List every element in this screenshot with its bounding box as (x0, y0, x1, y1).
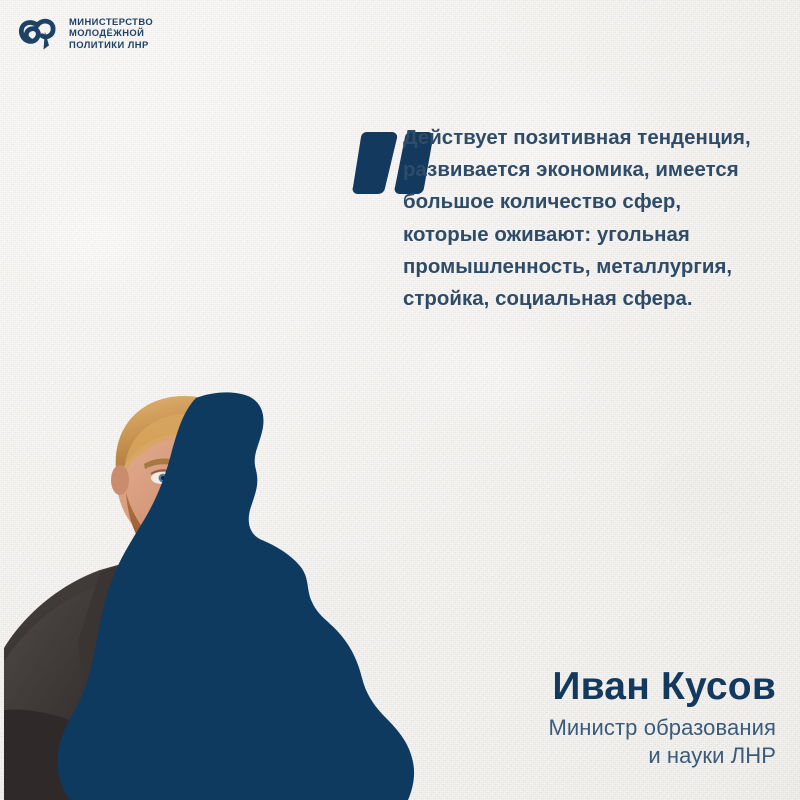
speaker-role: Министр образования и науки ЛНР (548, 714, 776, 770)
attribution-block: Иван Кусов Министр образования и науки Л… (548, 666, 776, 770)
ministry-logo-text: МИНИСТЕРСТВО МОЛОДЁЖНОЙ ПОЛИТИКИ ЛНР (69, 16, 153, 50)
logo-line-3: ПОЛИТИКИ ЛНР (69, 39, 153, 50)
quote-text: Действует позитивная тенденция, развивае… (352, 122, 754, 315)
quote-block: Действует позитивная тенденция, развивае… (352, 122, 754, 315)
logo-line-1: МИНИСТЕРСТВО (69, 16, 153, 27)
logo-line-2: МОЛОДЁЖНОЙ (69, 27, 153, 38)
blue-blob-backdrop (0, 390, 420, 800)
quote-card: МИНИСТЕРСТВО МОЛОДЁЖНОЙ ПОЛИТИКИ ЛНР Дей… (0, 0, 800, 800)
portrait-photo (0, 380, 420, 800)
speaker-name: Иван Кусов (548, 666, 776, 708)
ministry-logo: МИНИСТЕРСТВО МОЛОДЁЖНОЙ ПОЛИТИКИ ЛНР (16, 11, 153, 55)
ministry-emblem-icon (16, 11, 60, 55)
